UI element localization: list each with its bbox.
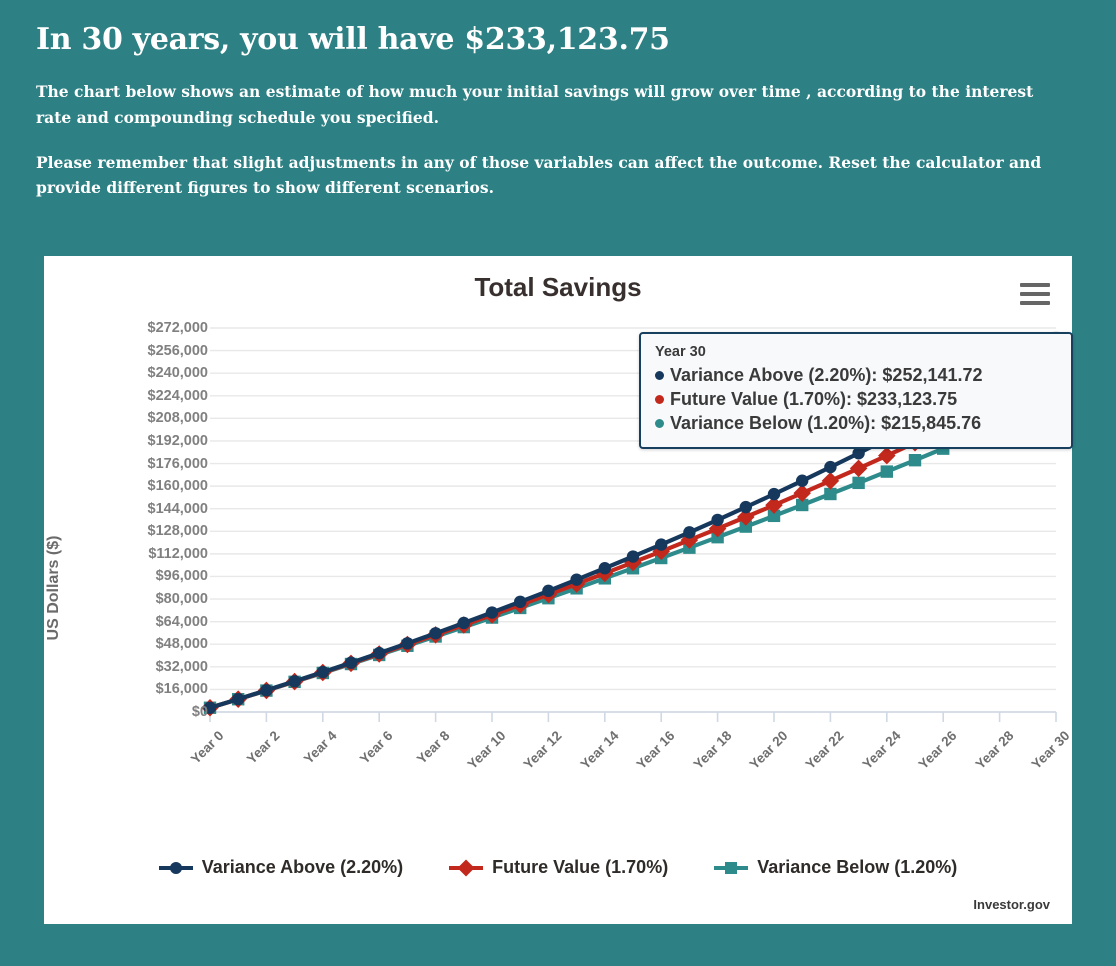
y-axis-title: US Dollars ($): [45, 536, 63, 641]
page-header: In 30 years, you will have $233,123.75 T…: [0, 0, 1116, 200]
y-axis-tick-label: $176,000: [88, 456, 208, 472]
y-axis-tick-label: $160,000: [88, 478, 208, 494]
y-axis-tick-label: $240,000: [88, 365, 208, 381]
tooltip-title: Year 30: [655, 344, 1057, 360]
legend-item-circle[interactable]: Variance Above (2.20%): [159, 857, 403, 878]
intro-paragraph-2: Please remember that slight adjustments …: [36, 150, 1056, 200]
legend-marker-icon: [159, 860, 193, 876]
y-axis-tick-label: $32,000: [88, 659, 208, 675]
y-axis-tick-label: $80,000: [88, 591, 208, 607]
legend-item-label: Variance Below (1.20%): [757, 857, 957, 878]
series-color-dot-icon: [655, 371, 664, 380]
legend-item-square[interactable]: Variance Below (1.20%): [714, 857, 957, 878]
y-axis-tick-label: $96,000: [88, 568, 208, 584]
page-title: In 30 years, you will have $233,123.75: [36, 22, 1080, 57]
chart-tooltip: Year 30 Variance Above (2.20%): $252,141…: [639, 332, 1073, 449]
y-axis-tick-label: $48,000: [88, 636, 208, 652]
tooltip-row: Future Value (1.70%): $233,123.75: [655, 387, 1057, 411]
y-axis-tick-label: $192,000: [88, 433, 208, 449]
series-color-dot-icon: [655, 419, 664, 428]
y-axis-tick-label: $16,000: [88, 681, 208, 697]
y-axis-tick-label: $0: [88, 704, 208, 720]
y-axis-tick-label: $144,000: [88, 501, 208, 517]
tooltip-row: Variance Below (1.20%): $215,845.76: [655, 411, 1057, 435]
y-axis-tick-label: $256,000: [88, 343, 208, 359]
legend-item-label: Future Value (1.70%): [492, 857, 668, 878]
intro-paragraph-1: The chart below shows an estimate of how…: [36, 79, 1056, 129]
tooltip-row-label: Future Value (1.70%): $233,123.75: [670, 389, 957, 409]
series-color-dot-icon: [655, 395, 664, 404]
y-axis-tick-label: $128,000: [88, 523, 208, 539]
tooltip-row: Variance Above (2.20%): $252,141.72: [655, 363, 1057, 387]
tooltip-row-label: Variance Above (2.20%): $252,141.72: [670, 365, 983, 385]
tooltip-row-label: Variance Below (1.20%): $215,845.76: [670, 413, 981, 433]
legend-item-label: Variance Above (2.20%): [202, 857, 403, 878]
hamburger-menu-icon[interactable]: [1020, 283, 1050, 305]
y-axis-tick-label: $224,000: [88, 388, 208, 404]
y-axis-tick-label: $112,000: [88, 546, 208, 562]
legend-item-diamond[interactable]: Future Value (1.70%): [449, 857, 668, 878]
y-axis-tick-label: $208,000: [88, 410, 208, 426]
y-axis-tick-label: $64,000: [88, 614, 208, 630]
chart-card: Total Savings US Dollars ($) $272,000$25…: [44, 256, 1072, 924]
chart-title: Total Savings: [44, 272, 1072, 303]
investor-gov-credit: Investor.gov: [973, 897, 1050, 912]
legend-marker-icon: [449, 860, 483, 876]
y-axis-tick-label: $272,000: [88, 320, 208, 336]
legend-marker-icon: [714, 860, 748, 876]
chart-legend: Variance Above (2.20%)Future Value (1.70…: [44, 857, 1072, 878]
